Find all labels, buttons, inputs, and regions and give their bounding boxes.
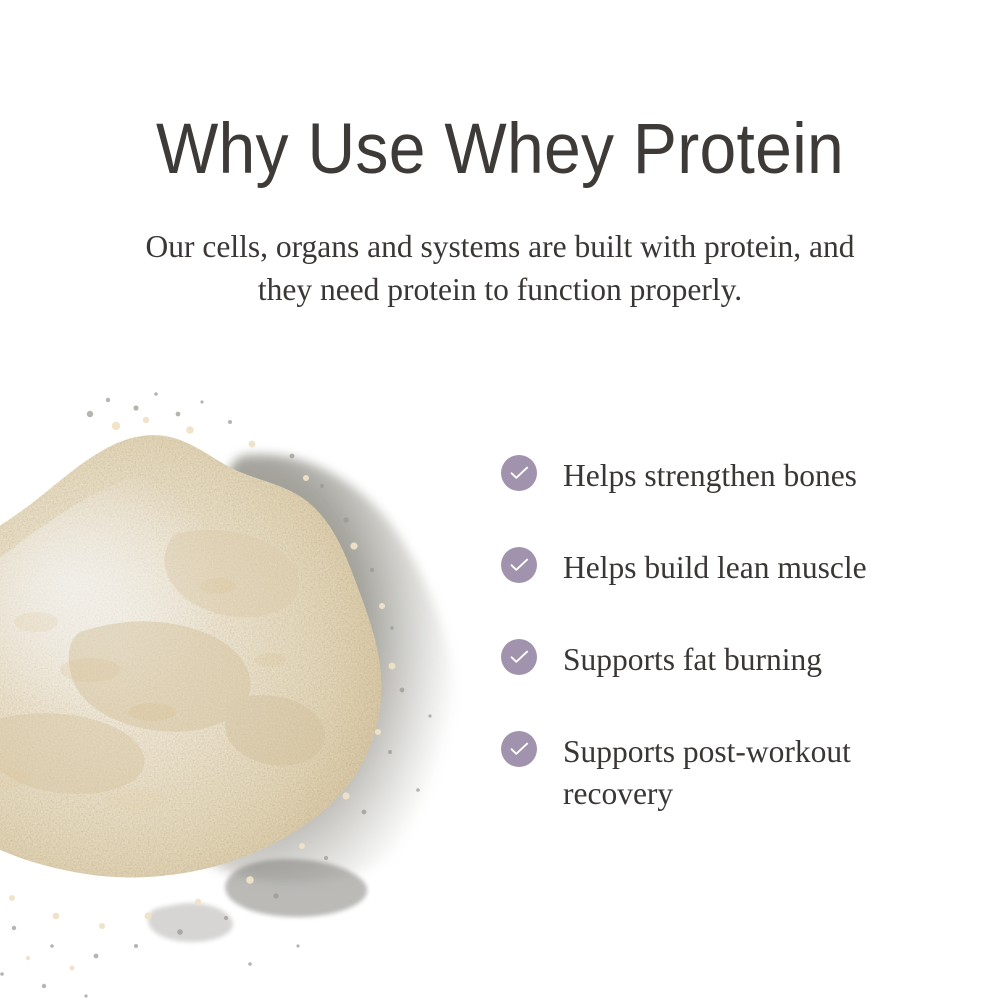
benefit-item-fat-burning: Supports fat burning <box>501 639 961 681</box>
benefit-label: Supports post-workout recovery <box>563 731 961 815</box>
page-title: Why Use Whey Protein <box>35 108 965 192</box>
check-circle-icon <box>501 547 537 583</box>
whey-protein-powder-photo <box>0 360 560 1000</box>
benefit-item-lean-muscle: Helps build lean muscle <box>501 547 961 589</box>
check-circle-icon <box>501 455 537 491</box>
page-subtitle: Our cells, organs and systems are built … <box>140 225 860 311</box>
infographic-canvas: Why Use Whey Protein Our cells, organs a… <box>0 0 1000 1000</box>
check-circle-icon <box>501 639 537 675</box>
benefit-item-post-workout-recovery: Supports post-workout recovery <box>501 731 961 815</box>
benefit-item-strengthen-bones: Helps strengthen bones <box>501 455 961 497</box>
benefits-list: Helps strengthen bones Helps build lean … <box>501 459 961 815</box>
benefit-label: Supports fat burning <box>563 639 961 681</box>
benefit-label: Helps strengthen bones <box>563 455 961 497</box>
benefit-label: Helps build lean muscle <box>563 547 961 589</box>
check-circle-icon <box>501 731 537 767</box>
